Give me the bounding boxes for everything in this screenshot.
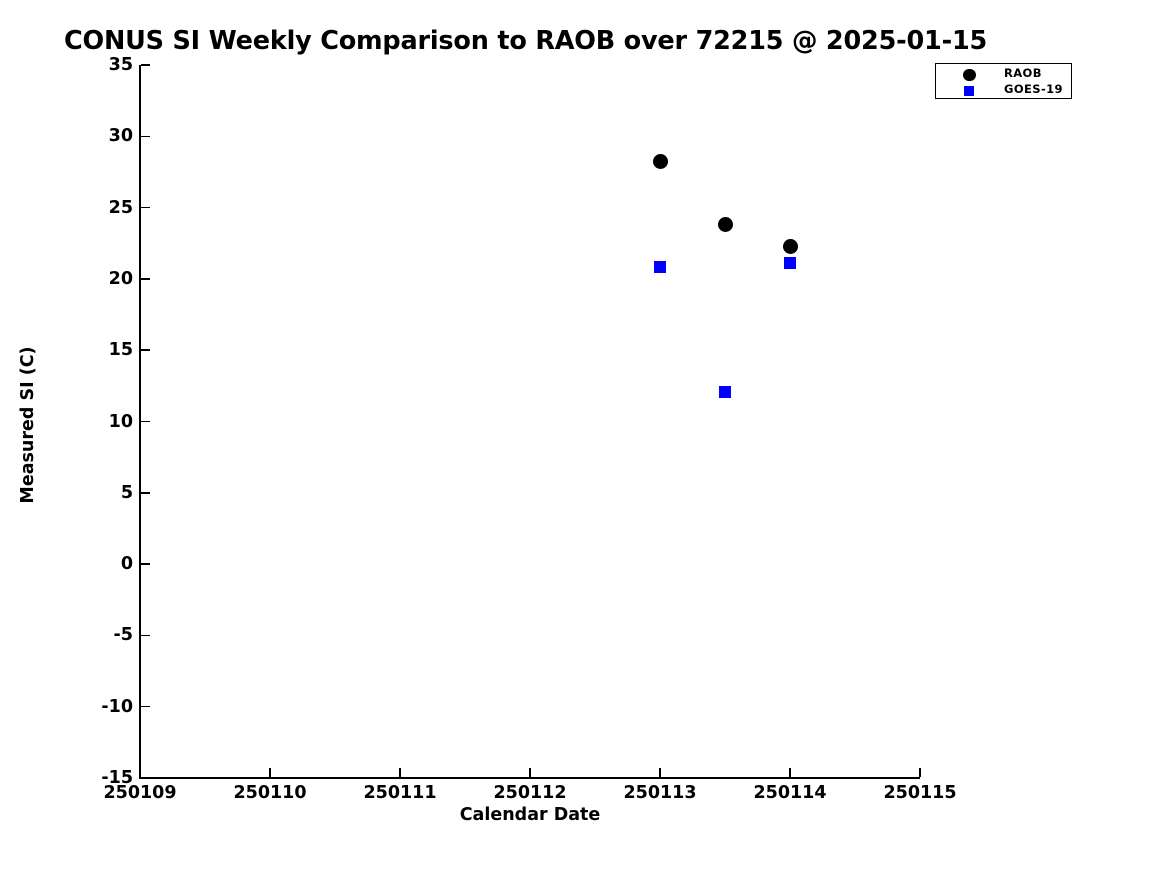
y-tick-label: 20 bbox=[33, 269, 133, 289]
y-tick-label-wrap: 20 bbox=[30, 269, 133, 289]
y-tick-label-wrap: 0 bbox=[30, 554, 133, 574]
y-tick-label-wrap: 15 bbox=[30, 340, 133, 360]
legend-circle-icon bbox=[963, 69, 976, 82]
chart-legend: RAOBGOES-19 bbox=[935, 63, 1072, 99]
data-point-goes-19 bbox=[654, 261, 666, 273]
data-point-raob bbox=[783, 239, 798, 254]
x-tick-label: 250114 bbox=[720, 783, 860, 803]
x-tick-label: 250110 bbox=[200, 783, 340, 803]
scatter-chart: CONUS SI Weekly Comparison to RAOB over … bbox=[0, 0, 1167, 875]
data-point-raob bbox=[718, 217, 733, 232]
y-tick-label: 25 bbox=[33, 198, 133, 218]
y-tick-label: 35 bbox=[33, 55, 133, 75]
y-tick-label-wrap: 10 bbox=[30, 412, 133, 432]
y-tick-label: 0 bbox=[33, 554, 133, 574]
y-tick-label-wrap: 30 bbox=[30, 126, 133, 146]
y-tick-label-wrap: -5 bbox=[30, 625, 133, 645]
legend-label: RAOB bbox=[1004, 66, 1042, 80]
x-tick-label: 250112 bbox=[460, 783, 600, 803]
y-tick-label: 15 bbox=[33, 340, 133, 360]
plot-area bbox=[140, 65, 920, 778]
data-point-goes-19 bbox=[719, 386, 731, 398]
y-tick-label-wrap: 5 bbox=[30, 483, 133, 503]
y-tick-label: 10 bbox=[33, 412, 133, 432]
y-tick-label: -5 bbox=[33, 625, 133, 645]
y-tick-label-wrap: 25 bbox=[30, 198, 133, 218]
legend-label: GOES-19 bbox=[1004, 82, 1063, 96]
y-tick-label: -10 bbox=[33, 697, 133, 717]
legend-square-icon bbox=[964, 86, 974, 96]
data-point-raob bbox=[653, 154, 668, 169]
legend-item-goes-19[interactable]: GOES-19 bbox=[936, 81, 1073, 98]
y-tick-label: 30 bbox=[33, 126, 133, 146]
y-tick-label: 5 bbox=[33, 483, 133, 503]
x-tick-label: 250115 bbox=[850, 783, 990, 803]
y-tick-label-wrap: 35 bbox=[30, 55, 133, 75]
y-tick-label-wrap: -10 bbox=[30, 697, 133, 717]
x-tick-label: 250113 bbox=[590, 783, 730, 803]
y-axis-label: Measured SI (C) bbox=[18, 275, 38, 575]
x-tick-label: 250109 bbox=[70, 783, 210, 803]
x-axis-label: Calendar Date bbox=[140, 805, 920, 825]
legend-item-raob[interactable]: RAOB bbox=[936, 65, 1073, 82]
data-point-goes-19 bbox=[784, 257, 796, 269]
x-tick-label: 250111 bbox=[330, 783, 470, 803]
chart-title: CONUS SI Weekly Comparison to RAOB over … bbox=[64, 26, 1104, 56]
